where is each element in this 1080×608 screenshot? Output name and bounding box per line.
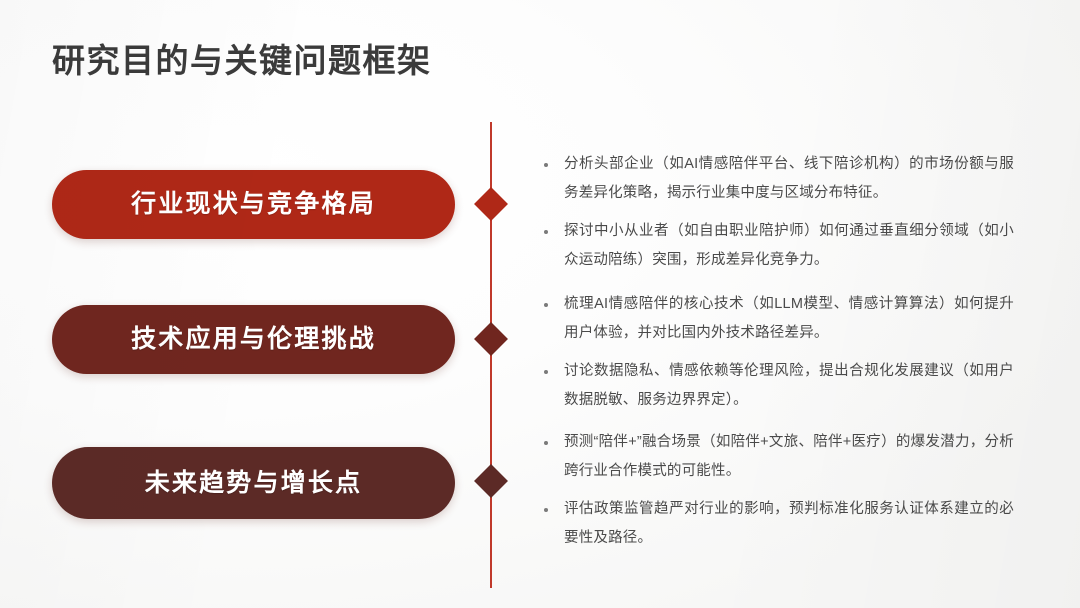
timeline-node-diamond-3 bbox=[474, 464, 508, 498]
list-item: 分析头部企业（如AI情感陪伴平台、线下陪诊机构）的市场份额与服务差异化策略，揭示… bbox=[538, 150, 1014, 208]
bullet-text: 预测“陪伴+”融合场景（如陪伴+文旅、陪伴+医疗）的爆发潜力，分析跨行业合作模式… bbox=[564, 434, 1014, 479]
bullet-text: 讨论数据隐私、情感依赖等伦理风险，提出合规化发展建议（如用户数据脱敏、服务边界界… bbox=[564, 363, 1014, 408]
bullet-text: 探讨中小从业者（如自由职业陪护师）如何通过垂直细分领域（如小众运动陪练）突围，形… bbox=[564, 223, 1014, 268]
bullet-text: 分析头部企业（如AI情感陪伴平台、线下陪诊机构）的市场份额与服务差异化策略，揭示… bbox=[564, 156, 1014, 201]
list-item: 讨论数据隐私、情感依赖等伦理风险，提出合规化发展建议（如用户数据脱敏、服务边界界… bbox=[538, 357, 1014, 415]
bullet-dot-icon bbox=[544, 303, 548, 307]
timeline-node-diamond-1 bbox=[474, 187, 508, 221]
bullet-text: 梳理AI情感陪伴的核心技术（如LLM模型、情感计算算法）如何提升用户体验，并对比… bbox=[564, 296, 1014, 341]
bullet-group-technology-ethics: 梳理AI情感陪伴的核心技术（如LLM模型、情感计算算法）如何提升用户体验，并对比… bbox=[538, 290, 1014, 415]
bullet-dot-icon bbox=[544, 441, 548, 445]
section-pill-future-trends[interactable]: 未来趋势与增长点 bbox=[52, 447, 455, 519]
list-item: 预测“陪伴+”融合场景（如陪伴+文旅、陪伴+医疗）的爆发潜力，分析跨行业合作模式… bbox=[538, 428, 1014, 486]
bullet-dot-icon bbox=[544, 230, 548, 234]
section-pill-label: 未来趋势与增长点 bbox=[145, 471, 363, 496]
list-item: 探讨中小从业者（如自由职业陪护师）如何通过垂直细分领域（如小众运动陪练）突围，形… bbox=[538, 217, 1014, 275]
section-pill-label: 技术应用与伦理挑战 bbox=[131, 327, 376, 352]
bullet-dot-icon bbox=[544, 370, 548, 374]
bullet-dot-icon bbox=[544, 163, 548, 167]
section-pill-industry-landscape[interactable]: 行业现状与竞争格局 bbox=[52, 170, 455, 239]
bullet-dot-icon bbox=[544, 508, 548, 512]
section-pill-technology-ethics[interactable]: 技术应用与伦理挑战 bbox=[52, 305, 455, 374]
section-pill-label: 行业现状与竞争格局 bbox=[131, 192, 376, 217]
timeline-node-diamond-2 bbox=[474, 322, 508, 356]
bullet-group-industry-landscape: 分析头部企业（如AI情感陪伴平台、线下陪诊机构）的市场份额与服务差异化策略，揭示… bbox=[538, 150, 1014, 275]
page-title: 研究目的与关键问题框架 bbox=[52, 38, 432, 84]
bullet-group-future-trends: 预测“陪伴+”融合场景（如陪伴+文旅、陪伴+医疗）的爆发潜力，分析跨行业合作模式… bbox=[538, 428, 1014, 553]
list-item: 梳理AI情感陪伴的核心技术（如LLM模型、情感计算算法）如何提升用户体验，并对比… bbox=[538, 290, 1014, 348]
list-item: 评估政策监管趋严对行业的影响，预判标准化服务认证体系建立的必要性及路径。 bbox=[538, 495, 1014, 553]
slide-canvas: 研究目的与关键问题框架 行业现状与竞争格局 技术应用与伦理挑战 未来趋势与增长点… bbox=[0, 0, 1080, 608]
bullet-text: 评估政策监管趋严对行业的影响，预判标准化服务认证体系建立的必要性及路径。 bbox=[564, 501, 1014, 546]
